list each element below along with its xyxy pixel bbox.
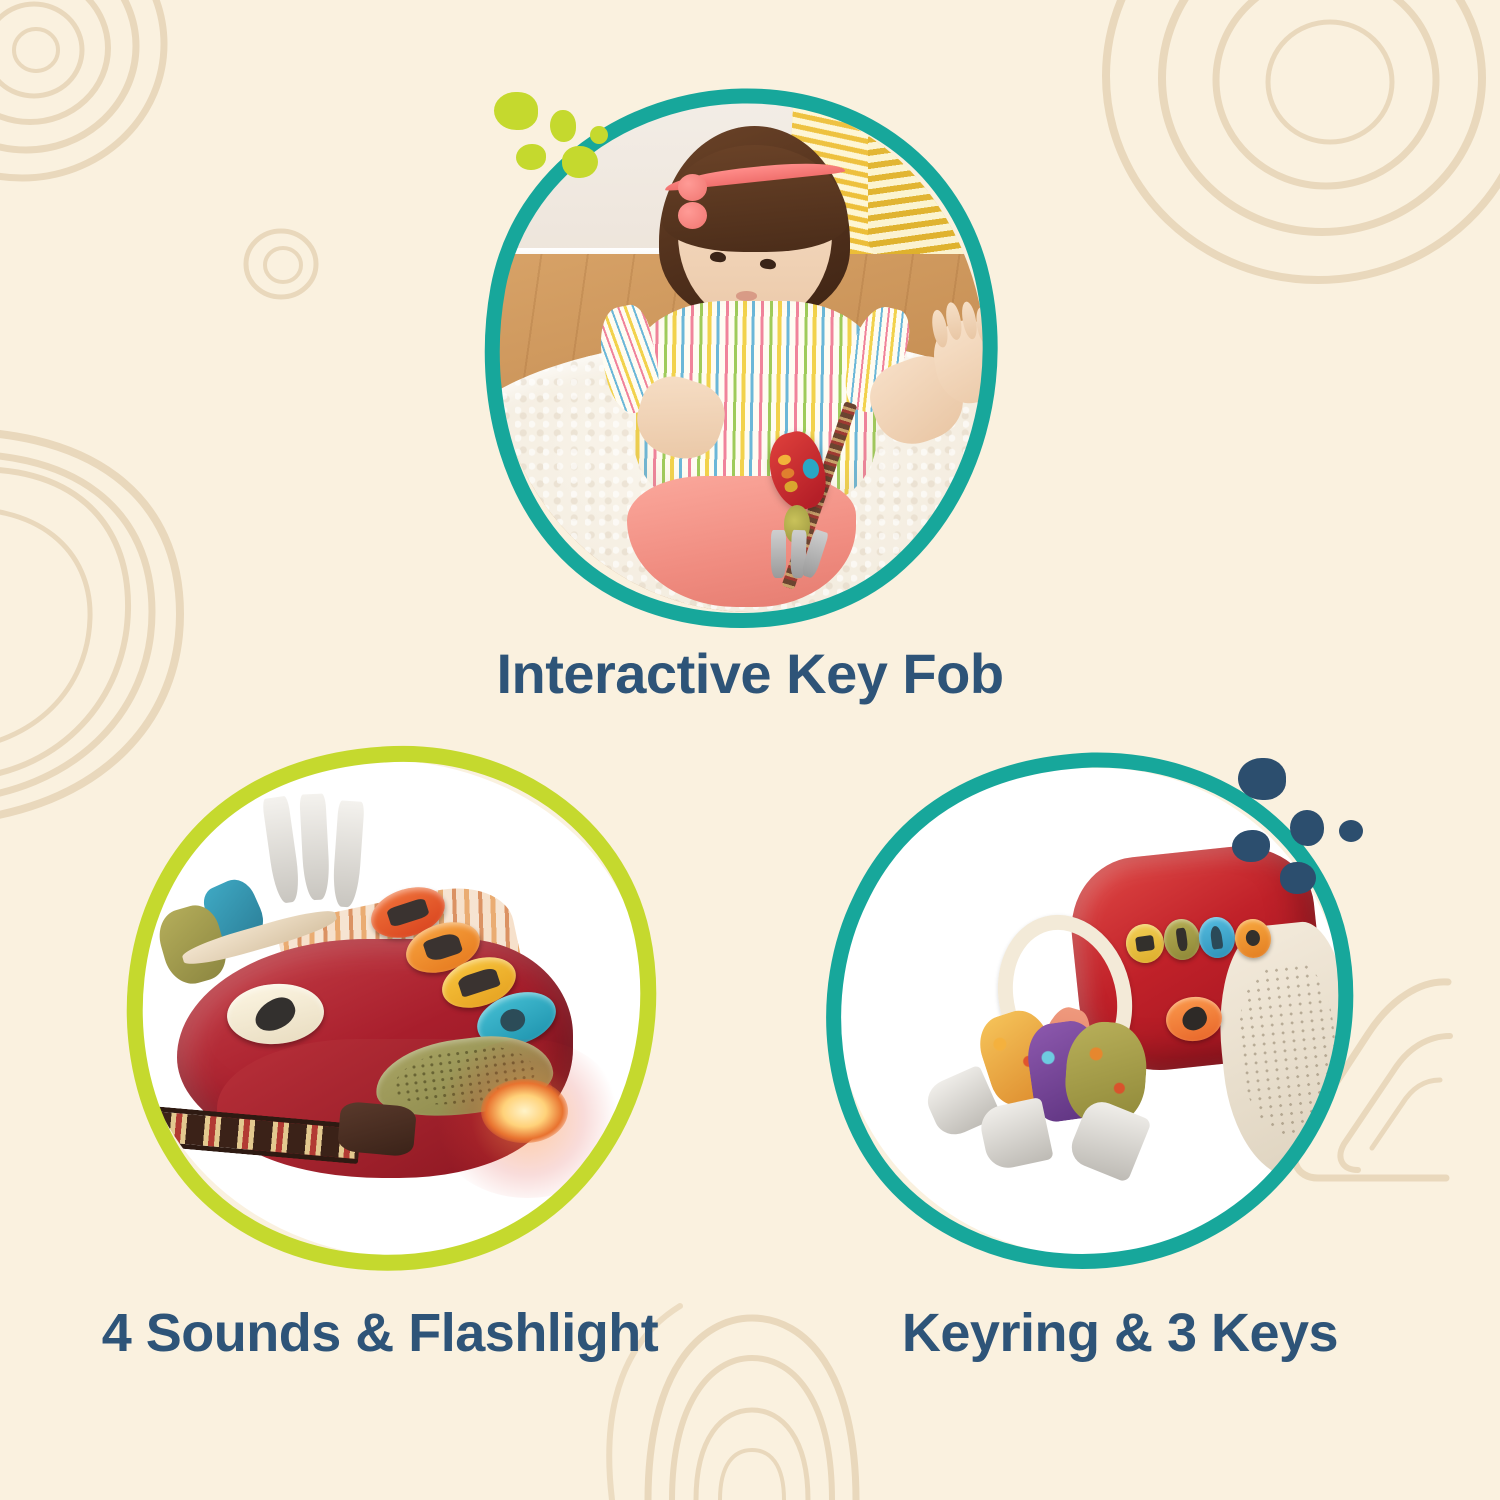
concentric-circles-top-left-icon bbox=[0, 0, 164, 178]
accent-dots-lime bbox=[480, 86, 1000, 626]
accent-dot bbox=[516, 144, 546, 170]
accent-dot bbox=[1238, 758, 1286, 800]
caption-interactive-key-fob: Interactive Key Fob bbox=[0, 646, 1500, 702]
accent-dot bbox=[590, 126, 608, 144]
panel-keyring-keys bbox=[820, 752, 1360, 1272]
panel-frame-lime bbox=[120, 744, 660, 1274]
accent-dot bbox=[562, 146, 598, 178]
panel-interactive-key-fob bbox=[480, 86, 1000, 626]
accent-dot bbox=[1290, 810, 1324, 846]
accent-dot bbox=[1280, 862, 1316, 894]
accent-dot bbox=[1232, 830, 1270, 862]
caption-sounds-flashlight: 4 Sounds & Flashlight bbox=[0, 1306, 760, 1360]
accent-dot bbox=[550, 110, 576, 142]
infographic-stage: Interactive Key Fob bbox=[0, 0, 1500, 1500]
accent-dot bbox=[494, 92, 538, 130]
panel-sounds-flashlight bbox=[120, 744, 660, 1274]
small-circle-mid-left-icon bbox=[246, 231, 316, 297]
caption-keyring-keys: Keyring & 3 Keys bbox=[740, 1306, 1500, 1360]
accent-dot bbox=[1339, 820, 1363, 842]
accent-dots-navy bbox=[820, 752, 1360, 1272]
concentric-circles-top-right-icon bbox=[1106, 0, 1500, 280]
